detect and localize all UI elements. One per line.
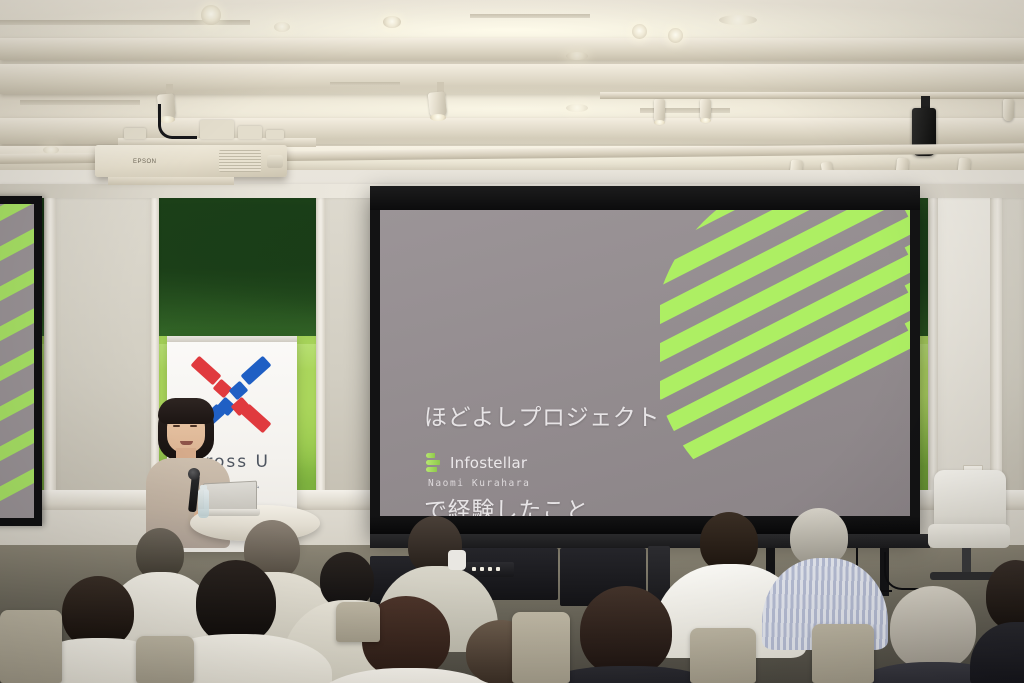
window-blind [325,194,373,496]
cable-icon [158,104,197,139]
slide-presenter-name: Naomi Kurahara [428,478,530,489]
downlight-icon [274,22,290,32]
window-blind [56,194,151,496]
spotlight-icon [1003,99,1014,121]
chair-icon [812,624,874,683]
slide-surface: ほどよしプロジェクト で経験したこと Infostellar Naomi Kur… [380,210,910,516]
projection-screen: ほどよしプロジェクト で経験したこと Infostellar Naomi Kur… [370,186,920,535]
slide-title-line1: ほどよしプロジェクト [424,403,660,434]
chair-icon [136,636,194,683]
banner-top-cap [167,336,297,342]
downlight-icon [566,52,588,60]
cable-icon [884,552,932,590]
secondary-projection-screen [0,196,42,526]
downlight-icon [383,16,401,28]
slide-stripe-graphic [660,210,910,516]
chair-icon [336,602,380,642]
water-bottle-icon [198,489,209,518]
chair-icon [0,610,62,683]
downlight-icon [668,28,683,43]
downlight-icon [201,5,221,25]
slide-title: ほどよしプロジェクト で経験したこと [424,341,660,516]
chair-icon [690,628,756,683]
projector-icon: EPSON [95,145,287,177]
downlight-icon [632,24,647,39]
window-blind [1002,194,1024,496]
av-rack-icon [466,562,514,577]
presentation-room-photo: EPSON [0,0,1024,683]
infostellar-logo-text: Infostellar [450,454,527,472]
downlight-icon [566,104,588,112]
projector-brand-label: EPSON [133,159,157,165]
infostellar-leaf-icon [426,453,443,472]
bottle-cap [200,485,207,490]
face-mask-icon [448,550,466,570]
secondary-screen-surface [0,204,34,518]
infostellar-logo: Infostellar [426,453,527,472]
chair-icon [512,612,570,683]
screen-top-bar [370,186,920,210]
downlight-icon [719,15,757,25]
microphone-head-icon [188,468,200,480]
office-chair-seat [928,524,1010,548]
slide-title-line2: で経験したこと [424,496,660,516]
